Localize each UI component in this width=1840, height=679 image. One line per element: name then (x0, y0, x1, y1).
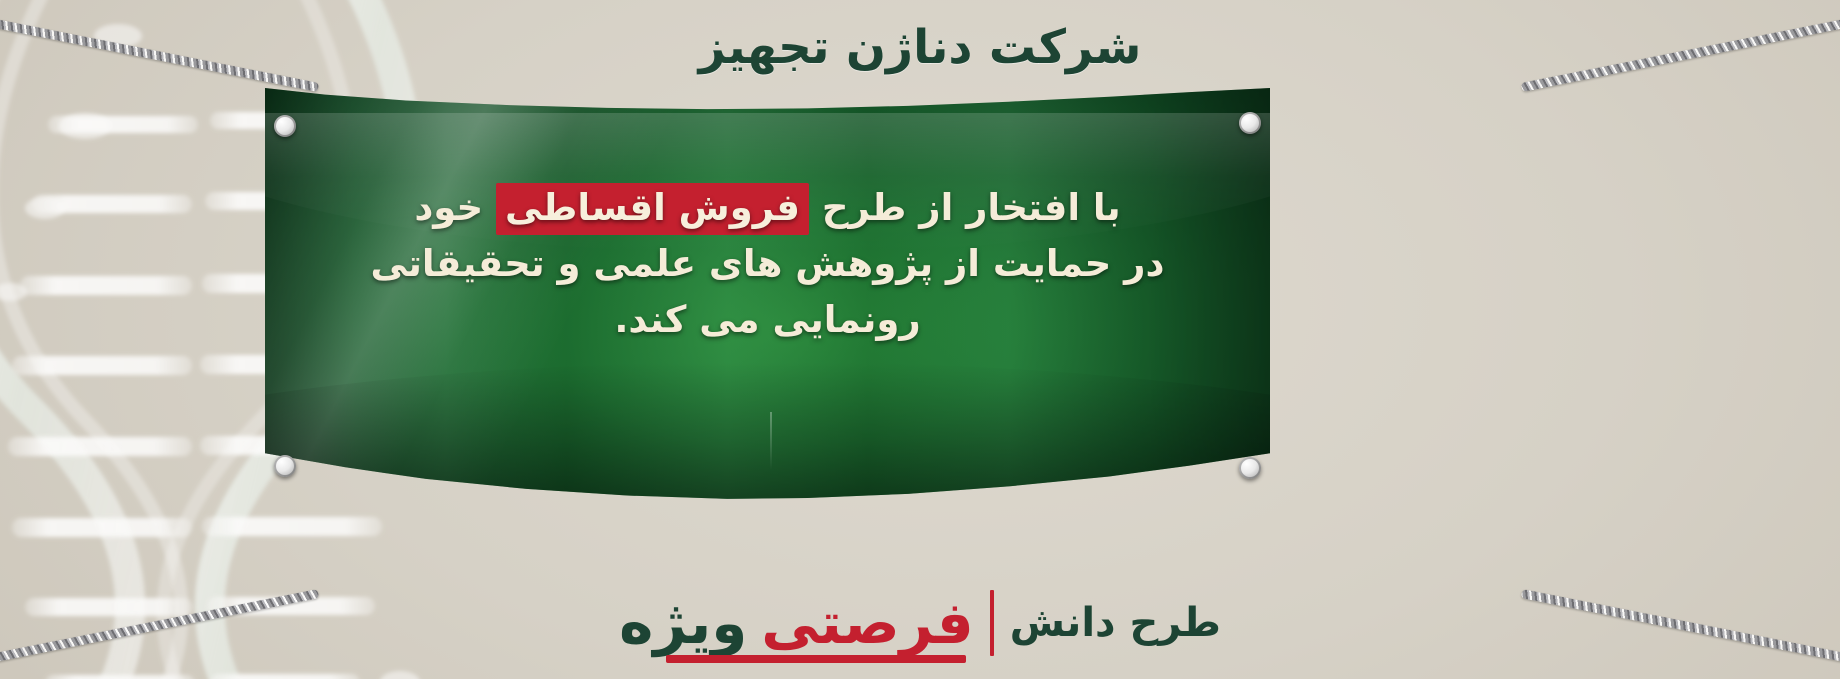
grommet-bottom-left-icon (274, 455, 296, 477)
banner-stage: شرکت دناژن تجهیز با افتخار از طرح فروش ا… (0, 0, 1840, 679)
grommet-top-right-icon (1239, 112, 1261, 134)
cloth-underside (275, 463, 1260, 505)
tagline-emphasis: فرصتی ویژه (619, 589, 974, 657)
tagline-plain-text: طرح دانش (1010, 600, 1221, 646)
banner-line-3: رونمایی می کند. (305, 292, 1230, 348)
banner-line-1-suffix: خود (414, 186, 496, 229)
cloth-shadow (265, 362, 1270, 503)
tagline-underline (666, 655, 966, 663)
banner-line-2: در حمایت از پژوهش های علمی و تحقیقاتی (305, 236, 1230, 292)
tagline: طرح دانش فرصتی ویژه (0, 589, 1840, 657)
grommet-top-left-icon (274, 115, 296, 137)
tagline-divider (990, 590, 994, 656)
cloth-crease (770, 412, 772, 470)
banner-line-1: با افتخار از طرح فروش اقساطی خود (305, 180, 1230, 236)
hanging-banner: با افتخار از طرح فروش اقساطی خود در حمای… (265, 88, 1270, 503)
page-title: شرکت دناژن تجهیز (0, 20, 1840, 75)
grommet-bottom-right-icon (1239, 457, 1261, 479)
banner-line-1-prefix: با افتخار از طرح (809, 186, 1121, 229)
tagline-emphasis-green: ویژه (619, 589, 747, 657)
banner-message: با افتخار از طرح فروش اقساطی خود در حمای… (265, 180, 1270, 349)
banner-line-1-highlight: فروش اقساطی (496, 183, 809, 235)
tagline-emphasis-red: فرصتی (761, 589, 973, 657)
